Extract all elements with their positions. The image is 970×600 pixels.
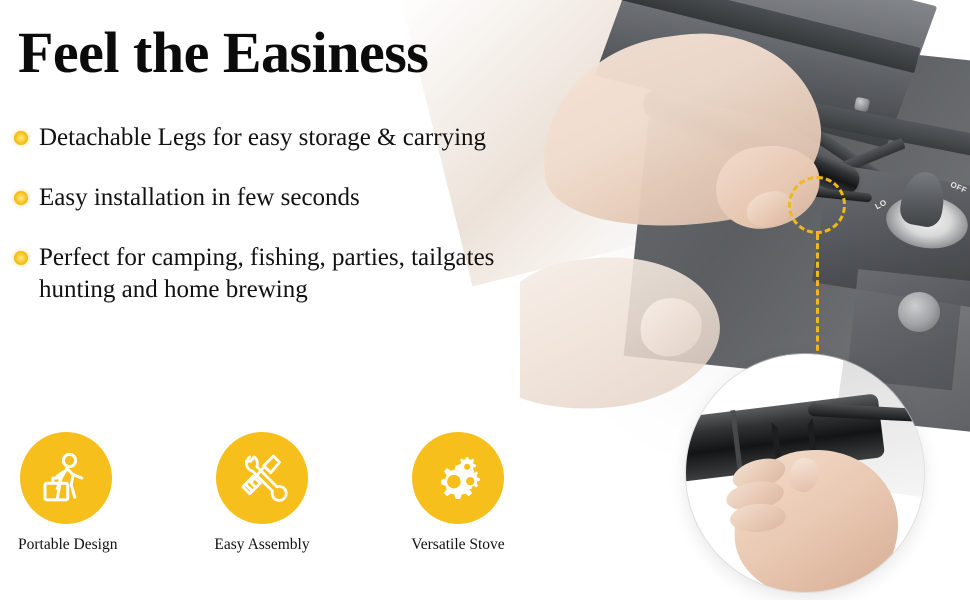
person-with-luggage-icon — [38, 450, 94, 506]
feature-icon-row: Portable Design Easy Assembly — [18, 432, 506, 554]
bullet-text: Easy installation in few seconds — [39, 182, 360, 214]
feature-circle — [20, 432, 112, 524]
bullet-dot-icon — [14, 131, 28, 145]
gears-icon — [429, 449, 487, 507]
magnified-detail-bubble — [686, 354, 924, 592]
feature-label: Portable Design — [18, 536, 114, 554]
product-feature-banner: OFF LO Feel the Easiness — [0, 0, 970, 600]
bullet-text: Perfect for camping, fishing, parties, t… — [39, 242, 529, 306]
bullet-dot-icon — [14, 251, 28, 265]
wrench-screwdriver-icon — [234, 450, 290, 506]
callout-circle-icon — [788, 176, 846, 234]
product-photo: OFF LO — [520, 0, 970, 600]
feature-label: Easy Assembly — [214, 536, 310, 554]
stove-bolt-icon — [854, 97, 870, 113]
feature-circle — [412, 432, 504, 524]
page-title: Feel the Easiness — [18, 24, 428, 82]
list-item: Easy installation in few seconds — [14, 182, 574, 214]
list-item: Perfect for camping, fishing, parties, t… — [14, 242, 574, 306]
feature-label: Versatile Stove — [410, 536, 506, 554]
feature-circle — [216, 432, 308, 524]
callout-connector-line — [816, 234, 819, 360]
feature-versatile-stove: Versatile Stove — [410, 432, 506, 554]
list-item: Detachable Legs for easy storage & carry… — [14, 122, 574, 154]
stove-lower-knob — [898, 292, 940, 332]
feature-easy-assembly: Easy Assembly — [214, 432, 310, 554]
bullet-text: Detachable Legs for easy storage & carry… — [39, 122, 486, 154]
feature-portable-design: Portable Design — [18, 432, 114, 554]
bullet-dot-icon — [14, 191, 28, 205]
feature-bullet-list: Detachable Legs for easy storage & carry… — [14, 122, 574, 334]
